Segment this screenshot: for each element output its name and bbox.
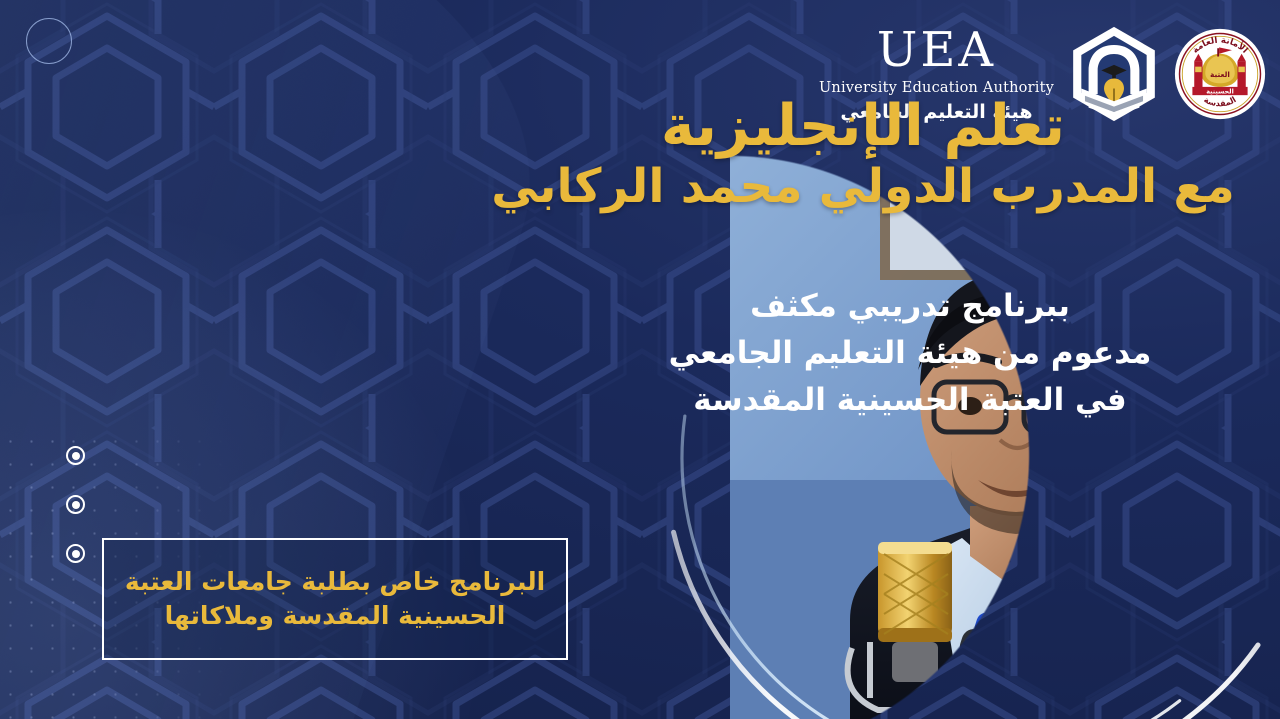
bullet-dot-group <box>66 446 85 563</box>
headline-line-1: تعلم الإنجليزية <box>468 96 1258 158</box>
body-line-1: ببرنامج تدريبي مكثف <box>600 283 1220 330</box>
svg-text:STORIES: STORIES <box>1167 437 1262 457</box>
body-line-2: مدعوم من هيئة التعليم الجامعي <box>600 330 1220 377</box>
page-title: تعلم الإنجليزية مع المدرب الدولي محمد ال… <box>468 96 1258 212</box>
callout-line-2: الحسينية المقدسة وملاكاتها <box>165 601 506 630</box>
bullet-dot-icon <box>66 446 85 465</box>
body-copy: ببرنامج تدريبي مكثف مدعوم من هيئة التعلي… <box>600 283 1220 424</box>
headline-line-2: مع المدرب الدولي محمد الركابي <box>468 162 1258 213</box>
eligibility-callout-box: البرنامج خاص بطلبة جامعات العتبة الحسيني… <box>102 538 568 660</box>
body-line-3: في العتبة الحسينية المقدسة <box>600 377 1220 424</box>
bullet-dot-icon <box>66 544 85 563</box>
trainer-photo: SHORT STORIES <box>730 150 1280 719</box>
svg-text:الحسينية: الحسينية <box>1206 87 1234 95</box>
decorative-circle-outline <box>26 18 72 64</box>
bullet-dot-icon <box>66 495 85 514</box>
callout-line-1: البرنامج خاص بطلبة جامعات العتبة <box>125 567 545 596</box>
promo-poster: SHORT STORIES <box>0 0 1280 719</box>
svg-text:العتبة: العتبة <box>1210 70 1230 79</box>
uea-acronym: UEA <box>877 26 996 74</box>
